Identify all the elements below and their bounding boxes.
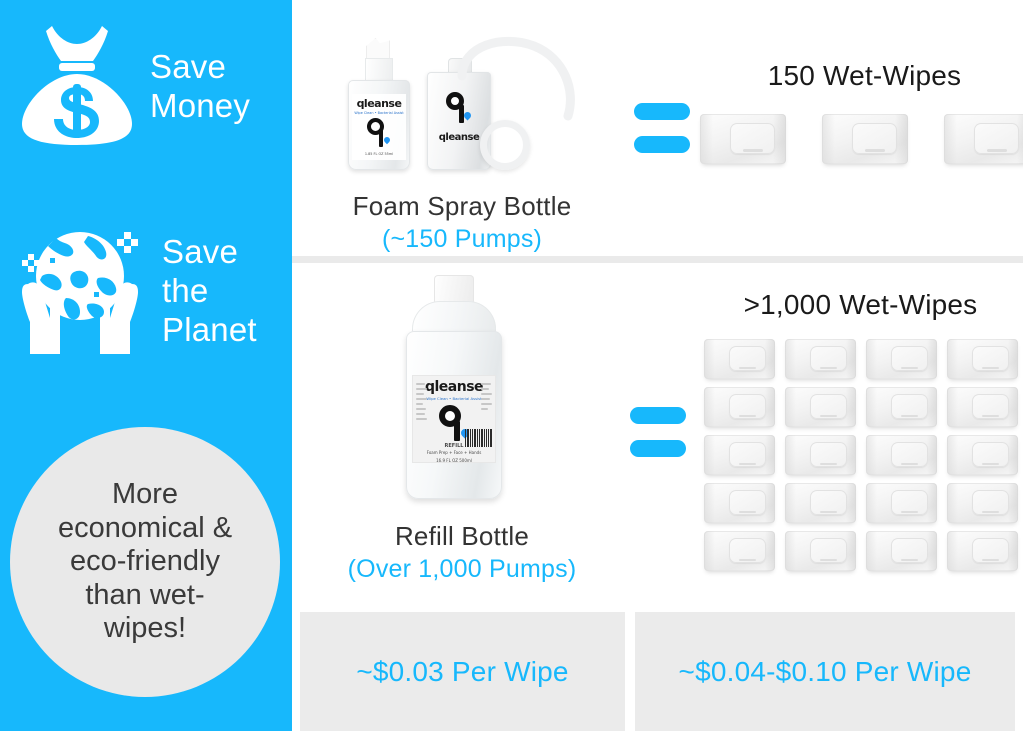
wipe-pack-lid (729, 442, 766, 467)
label-subtitle: Foam Prep + Face + Hands (427, 450, 482, 455)
benefit-label: Save Money (150, 48, 250, 126)
globe-in-hands-icon (12, 218, 148, 365)
section-divider (292, 256, 1023, 263)
summary-badge-text: More economical & eco-friendly than wet-… (58, 478, 232, 646)
brand-tagline: Wipe Clean • Bacterial Assist (426, 396, 481, 401)
wipe-pack-lid (810, 394, 847, 419)
price-box-refill: ~$0.03 Per Wipe (300, 612, 625, 731)
bottle-size-text: 1.85 FL OZ 55ml (365, 152, 393, 156)
equals-glyph (634, 103, 690, 153)
wipe-pack (822, 114, 908, 164)
wipe-pack (866, 531, 937, 571)
equals-glyph (630, 407, 686, 457)
wipe-pack-lid (729, 490, 766, 515)
wipe-pack (704, 387, 775, 427)
infographic-root: Save Money (0, 0, 1023, 731)
wipes-pack-row (700, 114, 1023, 164)
wipe-pack-lid (729, 394, 766, 419)
wipe-pack-lid (972, 346, 1009, 371)
product-column: qleanse Wipe Clean • Bacterial Assist 1.… (292, 0, 632, 256)
wipe-pack-lid (891, 442, 928, 467)
foam-spray-bottle-graphic: qleanse Wipe Clean • Bacterial Assist 1.… (348, 38, 410, 170)
wipe-pack-lid (891, 394, 928, 419)
wipe-pack-lid (810, 538, 847, 563)
product-subtitle: (~150 Pumps) (382, 225, 542, 254)
price-comparison-bar: ~$0.03 Per Wipe ~$0.04-$0.10 Per Wipe (292, 612, 1023, 731)
brand-tagline: Wipe Clean • Bacterial Assist (354, 111, 403, 115)
wipe-pack-lid (729, 346, 766, 371)
wipes-column: 150 Wet-Wipes (692, 0, 1023, 256)
wipe-pack (944, 114, 1023, 164)
wipe-pack (866, 339, 937, 379)
foam-spray-product-image: qleanse Wipe Clean • Bacterial Assist 1.… (312, 16, 612, 191)
wipe-pack (700, 114, 786, 164)
label-fineprint-left (416, 383, 427, 420)
wipe-pack-lid (891, 346, 928, 371)
wipe-pack (785, 435, 856, 475)
price-label: ~$0.03 Per Wipe (356, 656, 568, 688)
wipe-pack-lid (972, 442, 1009, 467)
wipe-pack-lid (810, 346, 847, 371)
brand-name: qleanse (357, 98, 402, 110)
wipe-pack-lid (810, 442, 847, 467)
wipe-pack-lid (810, 490, 847, 515)
bottle-cap (434, 275, 474, 303)
hose-loop (480, 120, 530, 170)
summary-badge: More economical & eco-friendly than wet-… (10, 427, 280, 697)
brand-name: qleanse (425, 380, 483, 395)
wipe-pack (785, 339, 856, 379)
comparison-row-foam-spray: qleanse Wipe Clean • Bacterial Assist 1.… (292, 0, 1023, 256)
label-fineprint-right (481, 383, 492, 410)
price-box-wipes: ~$0.04-$0.10 Per Wipe (635, 612, 1015, 731)
benefit-save-money: Save Money (18, 22, 250, 152)
equals-sign-2 (628, 263, 688, 600)
product-subtitle: (Over 1,000 Pumps) (348, 555, 577, 584)
wipe-pack (785, 387, 856, 427)
wipes-count-title: 150 Wet-Wipes (768, 60, 962, 92)
bottle-label: qleanse Wipe Clean • Bacterial Assist 1.… (352, 94, 406, 160)
label-kind: REFILL (445, 443, 464, 449)
wipe-pack (704, 483, 775, 523)
barcode-icon (465, 429, 492, 447)
wipe-pack-lid (972, 538, 1009, 563)
wipe-pack (866, 483, 937, 523)
benefit-label: Save the Planet (162, 233, 257, 350)
equals-sign-1 (632, 0, 692, 256)
wipe-pack-lid (891, 490, 928, 515)
wipe-pack (785, 483, 856, 523)
product-title: Refill Bottle (395, 521, 529, 552)
wipe-pack (947, 339, 1018, 379)
wipe-pack-lid (974, 123, 1019, 154)
wipe-pack-lid (972, 490, 1009, 515)
wipe-pack-lid (729, 538, 766, 563)
refill-product-image: qleanse Wipe Clean • Bacterial Assist RE… (312, 271, 612, 521)
benefits-sidebar: Save Money (0, 0, 292, 731)
benefit-save-the-planet: Save the Planet (12, 218, 257, 365)
comparison-row-refill: qleanse Wipe Clean • Bacterial Assist RE… (292, 263, 1023, 600)
wipes-column: >1,000 Wet-Wipes (688, 263, 1023, 600)
bottle-size-text: 16.9 FL OZ 500ml (436, 458, 472, 463)
wipe-pack (947, 483, 1018, 523)
wipe-pack-lid (852, 123, 897, 154)
wipe-pack-lid (891, 538, 928, 563)
wipe-pack (947, 387, 1018, 427)
product-column: qleanse Wipe Clean • Bacterial Assist RE… (292, 263, 632, 600)
bottle-label: qleanse Wipe Clean • Bacterial Assist RE… (412, 375, 496, 463)
wipe-pack-lid (730, 123, 775, 154)
wipe-pack (704, 531, 775, 571)
wipe-pack (947, 435, 1018, 475)
wipe-pack-lid (972, 394, 1009, 419)
q-logo-icon (366, 118, 392, 148)
product-title: Foam Spray Bottle (353, 191, 572, 222)
wipe-pack (704, 339, 775, 379)
price-label: ~$0.04-$0.10 Per Wipe (679, 656, 972, 688)
wipes-count-title: >1,000 Wet-Wipes (744, 289, 978, 321)
refill-bottle-graphic: qleanse Wipe Clean • Bacterial Assist RE… (398, 275, 510, 499)
wipe-pack (866, 387, 937, 427)
wipe-pack (785, 531, 856, 571)
wipe-pack (704, 435, 775, 475)
wipe-pack (866, 435, 937, 475)
wipes-pack-grid (704, 339, 1018, 571)
money-bag-icon (18, 22, 136, 152)
wipe-pack (947, 531, 1018, 571)
